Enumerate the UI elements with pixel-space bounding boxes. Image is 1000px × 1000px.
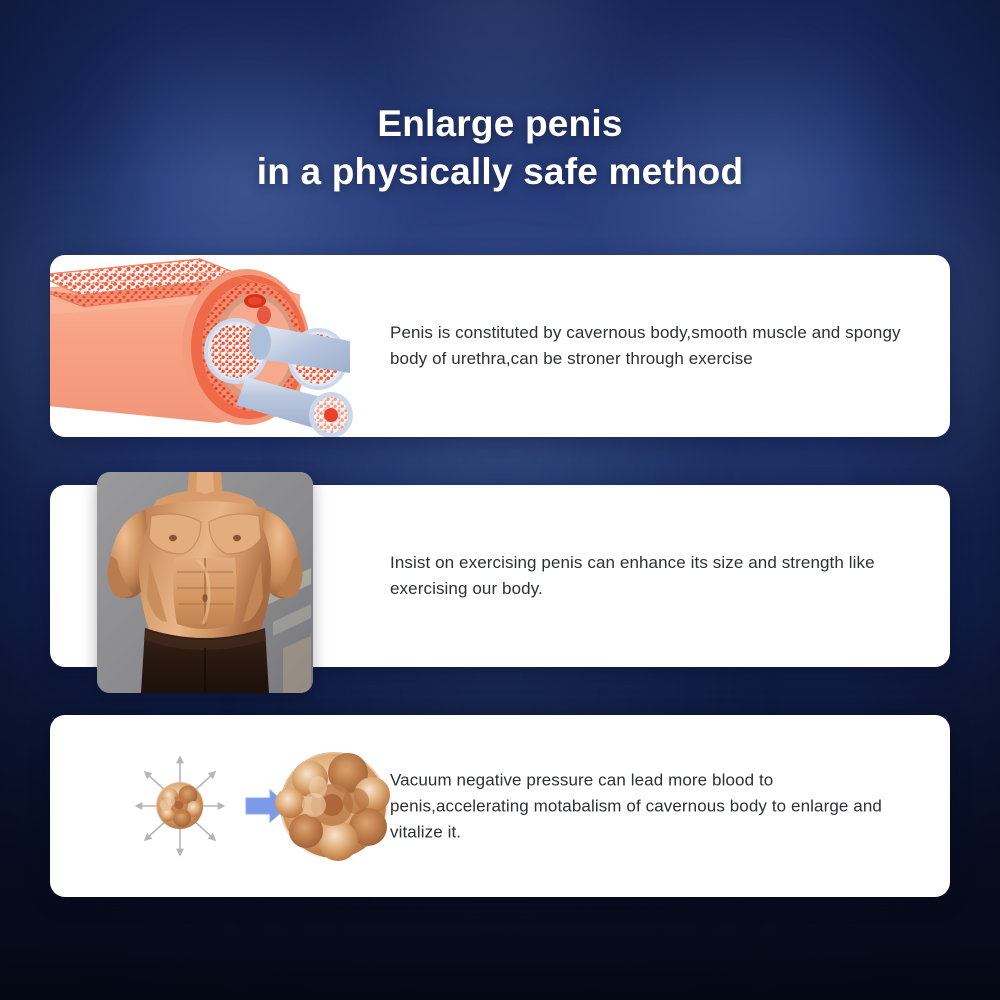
headline-line-1: Enlarge penis [0, 100, 1000, 148]
card-body-text: Vacuum negative pressure can lead more b… [390, 767, 912, 844]
page-title: Enlarge penis in a physically safe metho… [0, 100, 1000, 195]
headline-line-2: in a physically safe method [0, 148, 1000, 196]
feature-card-anatomy: Penis is constituted by cavernous body,s… [50, 255, 950, 437]
cell-enlargement-diagram [110, 735, 390, 877]
penis-cross-section-anatomy-illustration [50, 255, 380, 437]
muscular-male-torso-photo [97, 472, 313, 693]
feature-card-vacuum: Vacuum negative pressure can lead more b… [50, 715, 950, 897]
feature-card-exercise: Insist on exercising penis can enhance i… [50, 485, 950, 667]
card-body-text: Insist on exercising penis can enhance i… [390, 550, 912, 602]
card-body-text: Penis is constituted by cavernous body,s… [390, 320, 912, 372]
